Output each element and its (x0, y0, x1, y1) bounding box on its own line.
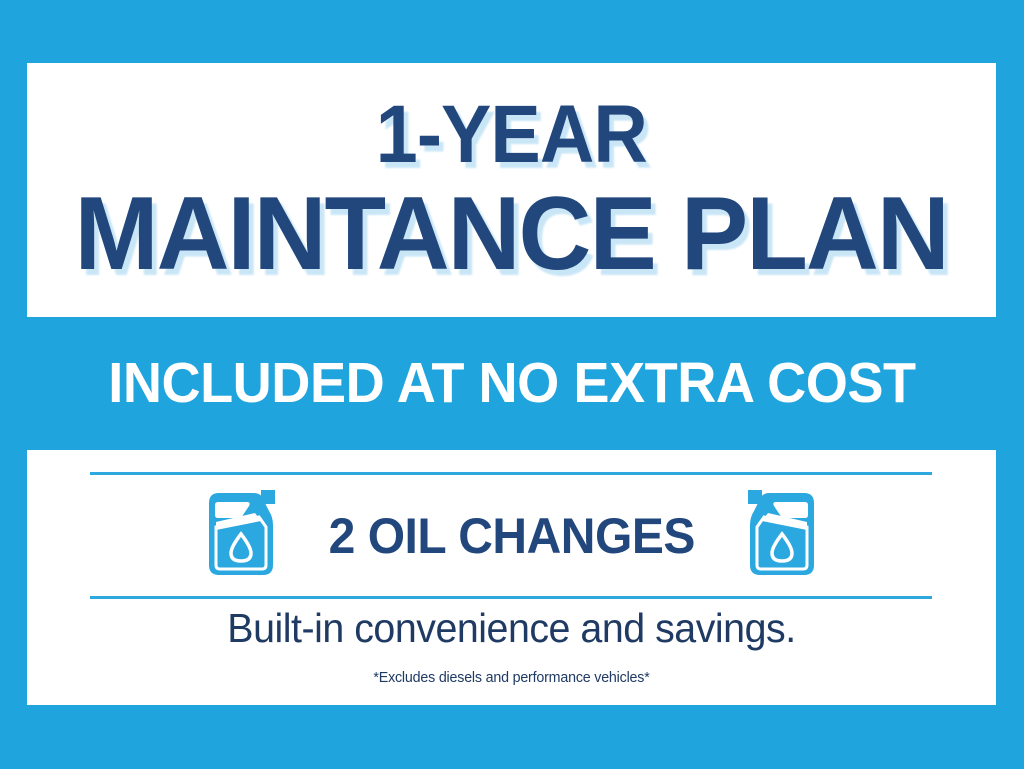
headline-line-1: 1-YEAR (376, 94, 647, 176)
offer-row: 2 OIL CHANGES (27, 475, 996, 596)
fineprint-disclaimer: *Excludes diesels and performance vehicl… (51, 670, 972, 685)
offer-label: 2 OIL CHANGES (328, 511, 694, 561)
offer-panel: 2 OIL CHANGES Built-in convenience and s… (27, 450, 996, 705)
divider-bottom (90, 596, 932, 599)
headline-line-2: MAINTANCE PLAN (75, 182, 948, 286)
headline-panel: 1-YEAR MAINTANCE PLAN (27, 63, 996, 317)
subheading-text: INCLUDED AT NO EXTRA COST (108, 355, 915, 412)
oil-jug-icon (742, 487, 820, 584)
promo-poster: 1-YEAR MAINTANCE PLAN INCLUDED AT NO EXT… (0, 0, 1024, 769)
oil-jug-icon (203, 487, 281, 584)
subheading-band: INCLUDED AT NO EXTRA COST (27, 317, 996, 450)
tagline: Built-in convenience and savings. (46, 608, 976, 649)
